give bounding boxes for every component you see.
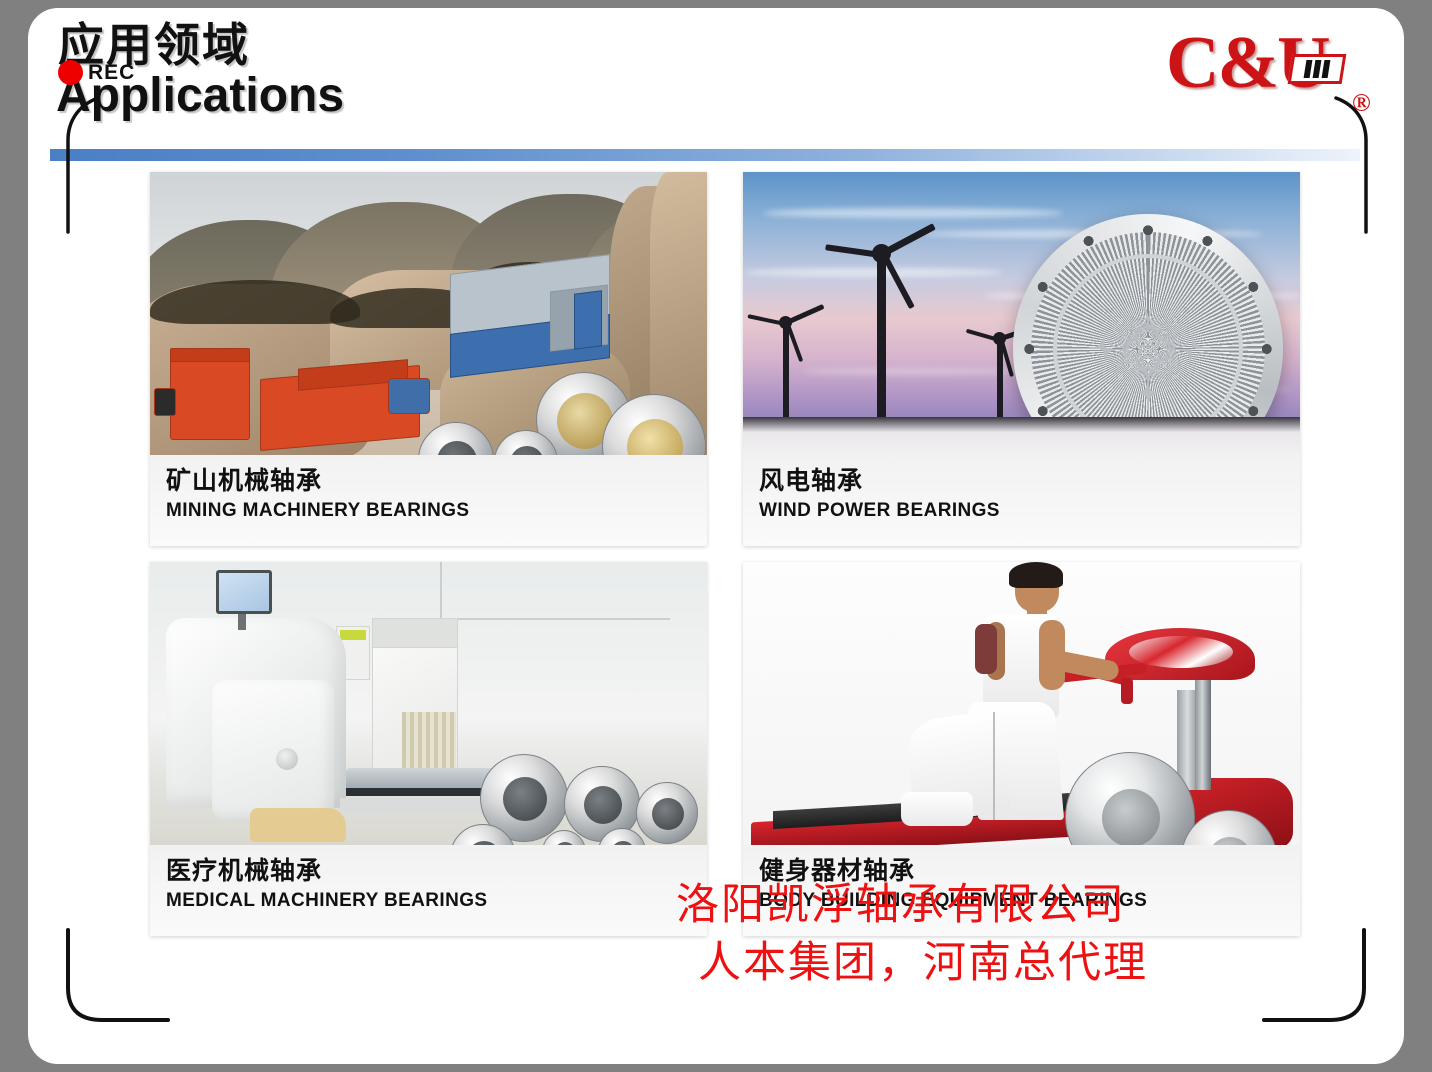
record-label: REC (88, 61, 135, 85)
record-dot-icon (58, 60, 83, 85)
wind-power-photo (743, 172, 1300, 455)
wind-power-title-en: WIND POWER BEARINGS (759, 499, 1300, 523)
corner-bracket-top-right (1318, 96, 1388, 236)
body-building-caption: 健身器材轴承 BODY BUILDING EQUIPMENT BEARINGS (743, 845, 1300, 936)
application-card-mining[interactable]: 矿山机械轴承 MINING MACHINERY BEARINGS (150, 172, 707, 546)
application-card-medical[interactable]: 医疗机械轴承 MEDICAL MACHINERY BEARINGS (150, 562, 707, 936)
wind-power-caption: 风电轴承 WIND POWER BEARINGS (743, 455, 1300, 546)
header-divider (50, 149, 1360, 161)
slide-header: 应用领域 Applications REC C&U ® (28, 8, 1404, 158)
logo-bars-icon (1288, 54, 1347, 84)
body-building-title-en: BODY BUILDING EQUIPMENT BEARINGS (759, 889, 1300, 913)
corner-bracket-bottom-right (1256, 926, 1386, 1036)
medical-title-en: MEDICAL MACHINERY BEARINGS (166, 889, 707, 913)
medical-title-cn: 医疗机械轴承 (166, 857, 707, 886)
body-building-photo (743, 562, 1300, 845)
wind-power-title-cn: 风电轴承 (759, 467, 1300, 496)
medical-caption: 医疗机械轴承 MEDICAL MACHINERY BEARINGS (150, 845, 707, 936)
applications-grid: 矿山机械轴承 MINING MACHINERY BEARINGS (150, 172, 1300, 942)
corner-bracket-top-left (46, 96, 116, 236)
mining-title-en: MINING MACHINERY BEARINGS (166, 499, 707, 523)
medical-photo (150, 562, 707, 845)
mining-caption: 矿山机械轴承 MINING MACHINERY BEARINGS (150, 455, 707, 546)
slide-canvas: 应用领域 Applications REC C&U ® (28, 8, 1404, 1064)
mining-photo (150, 172, 707, 455)
recording-indicator: REC (58, 60, 135, 85)
application-card-body-building[interactable]: 健身器材轴承 BODY BUILDING EQUIPMENT BEARINGS (743, 562, 1300, 936)
application-card-wind-power[interactable]: 风电轴承 WIND POWER BEARINGS (743, 172, 1300, 546)
mining-title-cn: 矿山机械轴承 (166, 467, 707, 496)
body-building-title-cn: 健身器材轴承 (759, 857, 1300, 886)
corner-bracket-bottom-left (46, 926, 176, 1036)
